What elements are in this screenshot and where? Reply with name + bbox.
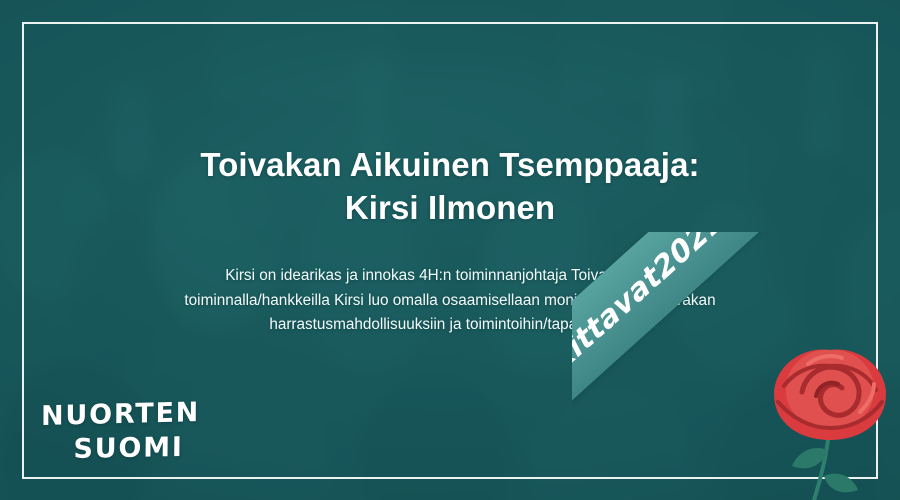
title-line-1: Toivakan Aikuinen Tsemppaaja: xyxy=(118,144,782,187)
text-content-block: Toivakan Aikuinen Tsemppaaja: Kirsi Ilmo… xyxy=(0,144,900,338)
page-title: Toivakan Aikuinen Tsemppaaja: Kirsi Ilmo… xyxy=(118,144,782,230)
award-graphic-card: Toivakan Aikuinen Tsemppaaja: Kirsi Ilmo… xyxy=(0,0,900,500)
logo-line-2: SUOMI xyxy=(41,434,200,464)
nuorten-suomi-logo: NUORTEN SUOMI xyxy=(41,401,200,462)
description-text: Kirsi on idearikas ja innokas 4H:n toimi… xyxy=(156,264,744,338)
title-line-2: Kirsi Ilmonen xyxy=(118,187,782,230)
logo-line-1: NUORTEN xyxy=(41,399,200,430)
